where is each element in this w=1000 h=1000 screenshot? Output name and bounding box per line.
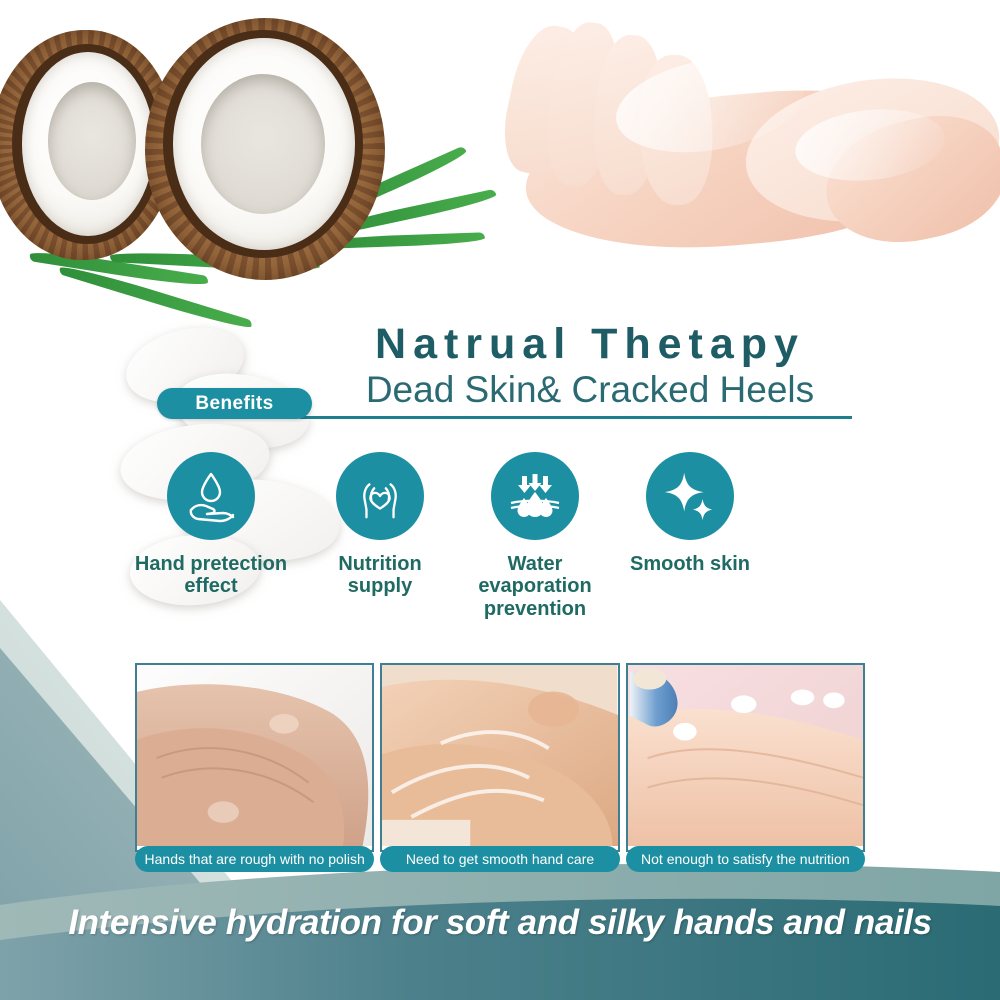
benefit-item-hand-protection: Hand pretectioneffect (126, 452, 296, 598)
water-evaporation-icon (491, 452, 579, 540)
sparkle-icon (646, 452, 734, 540)
benefit-item-nutrition-supply: Nutritionsupply (295, 452, 465, 598)
benefits-badge-label: Benefits (195, 393, 273, 415)
hand-with-droplet-icon (167, 452, 255, 540)
headline-block: Natrual Thetapy Dead Skin& Cracked Heels (330, 322, 850, 411)
benefits-row: Hand pretectioneffect Nutritionsupply (150, 452, 850, 642)
lotion-application-photo (626, 663, 865, 852)
hand-massage-photo (380, 663, 619, 852)
benefit-label: Water evaporationprevention (450, 553, 620, 620)
coconut-half-right (145, 18, 385, 280)
page-subtitle: Dead Skin& Cracked Heels (330, 369, 850, 410)
benefit-label: Smooth skin (605, 553, 775, 575)
coconut-halves-with-palm-leaves (0, 10, 460, 310)
benefit-item-smooth-skin: Smooth skin (605, 452, 775, 575)
hands-applying-lotion-photo (495, 0, 1000, 320)
rough-hands-photo (135, 663, 374, 852)
tagline: Intensive hydration for soft and silky h… (0, 903, 1000, 943)
headline-divider (300, 416, 852, 419)
product-infographic: Natrual Thetapy Dead Skin& Cracked Heels… (0, 0, 1000, 1000)
hands-holding-heart-icon (336, 452, 424, 540)
photo-tile-strip (135, 663, 865, 848)
benefit-item-water-evaporation: Water evaporationprevention (450, 452, 620, 620)
benefits-badge: Benefits (157, 388, 312, 419)
benefit-label: Nutritionsupply (295, 553, 465, 598)
benefit-label: Hand pretectioneffect (126, 553, 296, 598)
caption-pill: Need to get smooth hand care (380, 846, 619, 872)
page-title: Natrual Thetapy (330, 322, 850, 367)
caption-pill: Hands that are rough with no polish (135, 846, 374, 872)
caption-pill: Not enough to satisfy the nutrition (626, 846, 865, 872)
caption-row: Hands that are rough with no polish Need… (135, 846, 865, 872)
